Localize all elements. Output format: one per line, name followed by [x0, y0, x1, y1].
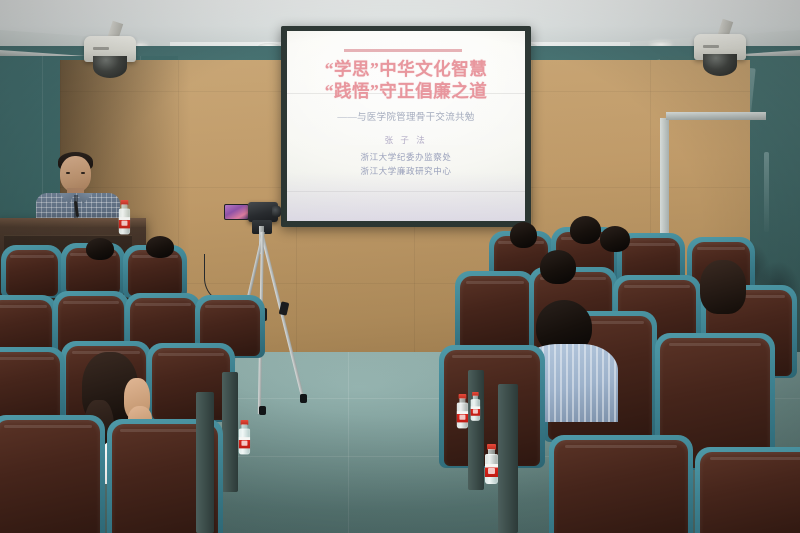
audience-member [540, 250, 576, 284]
audience-member [700, 260, 746, 300]
seat[interactable] [6, 250, 58, 296]
slide-author: 张 子 法 [385, 134, 428, 146]
projection-screen: “学思”中华文化智慧 “践悟”守正倡廉之道 ——与医学院管理骨干交流共勉 张 子… [287, 31, 525, 221]
seat-column [498, 384, 518, 533]
seat-column [222, 372, 238, 492]
audience-member [146, 236, 174, 258]
seat-column [196, 392, 214, 533]
wood-wall-metal-trim-top [666, 112, 766, 120]
slide-accent-bar [344, 49, 462, 52]
seat[interactable] [554, 440, 688, 533]
camera-lens-icon [272, 206, 281, 217]
seat[interactable] [700, 452, 800, 533]
camcorder-flip-screen [224, 204, 249, 220]
slide-subtitle: ——与医学院管理骨干交流共勉 [337, 109, 474, 123]
slide-title-line-2: “践悟”守正倡廉之道 [325, 80, 488, 102]
seat[interactable] [0, 420, 100, 533]
seat[interactable] [0, 352, 60, 424]
slide-title-line-1: “学思”中华文化智慧 [325, 58, 488, 80]
lecture-hall-scene: “学思”中华文化智慧 “践悟”守正倡廉之道 ——与医学院管理骨干交流共勉 张 子… [0, 0, 800, 533]
audience-member [600, 226, 630, 252]
slide-org-line-1: 浙江大学纪委办监察处 [360, 151, 451, 164]
audience-member [570, 216, 601, 244]
audience-member [510, 222, 537, 248]
audience-member [86, 238, 114, 260]
seat[interactable] [152, 348, 230, 420]
presenter [30, 148, 126, 226]
presenter-head [60, 156, 91, 192]
slide-org-line-2: 浙江大学廉政研究中心 [360, 165, 451, 178]
seat-column [468, 370, 484, 490]
